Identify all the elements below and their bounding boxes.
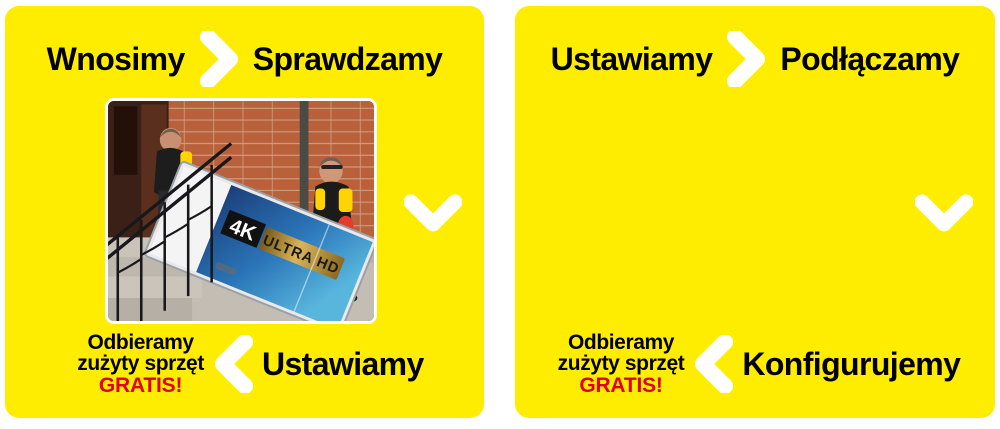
step-label-ustawiamy: Ustawiamy — [262, 346, 424, 383]
photo-delivery-illustration: 4K ULTRA HD — [108, 101, 374, 321]
chevron-left-icon — [212, 335, 254, 393]
recycling-note-installation: Odbieramy zużyty sprzęt GRATIS! — [558, 332, 685, 396]
chevron-down-icon — [915, 194, 973, 236]
card-installation: Ustawiamy Podłączamy — [515, 6, 995, 418]
recycling-note-gratis: GRATIS! — [558, 375, 685, 396]
bottom-row-installation: Odbieramy zużyty sprzęt GRATIS! Konfigur… — [515, 324, 999, 404]
recycling-note-line-2: zużyty sprzęt — [77, 353, 204, 374]
recycling-note-line-2: zużyty sprzęt — [558, 353, 685, 374]
recycling-note-line-1: Odbieramy — [77, 332, 204, 353]
recycling-note-delivery: Odbieramy zużyty sprzęt GRATIS! — [77, 332, 204, 396]
chevron-left-icon — [692, 335, 734, 393]
step-label-podlaczamy: Podłączamy — [780, 43, 959, 75]
step-label-sprawdzamy: Sprawdzamy — [253, 43, 443, 75]
recycling-note-line-1: Odbieramy — [558, 332, 685, 353]
headline-row-delivery: Wnosimy Sprawdzamy — [5, 33, 484, 85]
chevron-right-icon — [199, 31, 239, 87]
bottom-row-delivery: Odbieramy zużyty sprzęt GRATIS! Ustawiam… — [5, 324, 490, 404]
chevron-down-icon — [404, 194, 462, 236]
photo-delivery: 4K ULTRA HD — [105, 98, 377, 324]
step-label-konfigurujemy: Konfigurujemy — [742, 346, 960, 383]
infographic-stage: Wnosimy Sprawdzamy — [0, 0, 1000, 429]
card-delivery: Wnosimy Sprawdzamy — [5, 6, 484, 418]
step-label-ustawiamy-2: Ustawiamy — [551, 43, 713, 75]
headline-row-installation: Ustawiamy Podłączamy — [515, 33, 995, 85]
chevron-right-icon — [726, 31, 766, 87]
recycling-note-gratis: GRATIS! — [77, 375, 204, 396]
step-label-wnosimy: Wnosimy — [47, 43, 185, 75]
